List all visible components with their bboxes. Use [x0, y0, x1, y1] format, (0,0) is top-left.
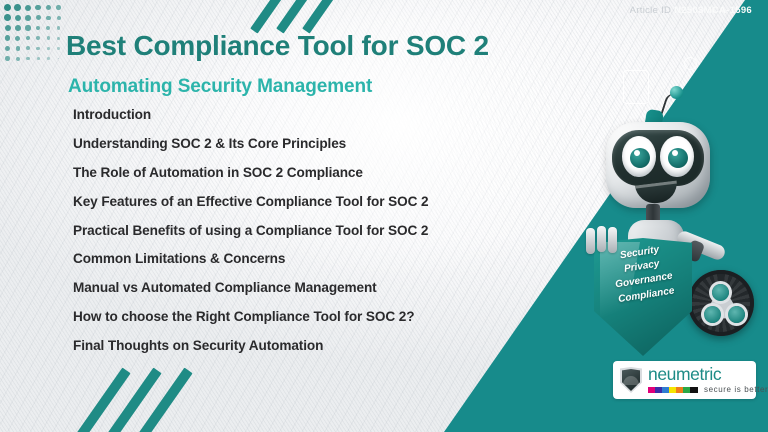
- page-subtitle: Automating Security Management: [68, 76, 372, 98]
- decorative-dot: [57, 26, 60, 29]
- decorative-dot: [47, 36, 50, 39]
- robot-finger: [586, 228, 595, 254]
- decorative-dot: [46, 16, 51, 21]
- decorative-slashes-bottom: [92, 368, 202, 432]
- logo-wordmark: neumetric: [648, 366, 768, 384]
- decorative-dot: [57, 16, 61, 20]
- decorative-dot-grid: [0, 0, 62, 62]
- decorative-dot: [26, 46, 30, 50]
- toc-item[interactable]: Understanding SOC 2 & Its Core Principle…: [73, 137, 543, 151]
- decorative-dot: [47, 47, 50, 50]
- slide-canvas: Article ID N2503MCA-1596 Best Compliance…: [0, 0, 768, 432]
- robot-wheel-hub-hole: [712, 284, 729, 301]
- logo-tagline-row: secure is better: [648, 385, 768, 394]
- decorative-dot: [25, 15, 31, 21]
- logo-color-bar: [648, 387, 698, 393]
- decorative-dot: [4, 14, 11, 21]
- decorative-dot: [16, 57, 20, 61]
- robot-eye-glint-right: [672, 150, 678, 156]
- article-id-label: Article ID: [630, 5, 672, 16]
- toc-item[interactable]: Key Features of an Effective Compliance …: [73, 195, 543, 209]
- decorative-dot: [25, 25, 30, 30]
- toc-item[interactable]: Final Thoughts on Security Automation: [73, 339, 543, 353]
- toc-item[interactable]: Manual vs Automated Compliance Managemen…: [73, 281, 543, 295]
- logo-text-group: neumetric secure is better: [648, 366, 768, 395]
- decorative-dot: [47, 57, 49, 59]
- robot-antenna-ball: [670, 86, 683, 99]
- decorative-dot: [5, 35, 11, 41]
- decorative-dot: [26, 36, 31, 41]
- toc-item[interactable]: The Role of Automation in SOC 2 Complian…: [73, 166, 543, 180]
- decorative-dot: [16, 46, 21, 51]
- decorative-dot: [36, 36, 40, 40]
- toc-item[interactable]: Common Limitations & Concerns: [73, 252, 543, 266]
- decorative-dot: [36, 15, 41, 20]
- robot-hand-left: [586, 226, 622, 252]
- robot-mascot: SecurityPrivacyGovernanceCompliance: [578, 78, 768, 348]
- article-id-value: N2503MCA-1596: [674, 5, 752, 16]
- neumetric-logo[interactable]: neumetric secure is better: [613, 361, 756, 399]
- decorative-slashes-top: [256, 0, 356, 32]
- decorative-dot: [5, 25, 11, 31]
- table-of-contents: IntroductionUnderstanding SOC 2 & Its Co…: [73, 108, 543, 368]
- decorative-dot: [35, 5, 41, 11]
- decorative-dot: [14, 4, 21, 11]
- toc-item[interactable]: How to choose the Right Compliance Tool …: [73, 310, 543, 324]
- decorative-dot: [57, 47, 59, 49]
- toc-item[interactable]: Introduction: [73, 108, 543, 122]
- decorative-dot: [4, 4, 11, 11]
- page-title: Best Compliance Tool for SOC 2: [66, 30, 489, 62]
- decorative-dot: [25, 5, 31, 11]
- toc-item[interactable]: Practical Benefits of using a Compliance…: [73, 224, 543, 238]
- decorative-dot: [36, 47, 39, 50]
- robot-finger: [608, 227, 617, 253]
- decorative-dot: [15, 15, 21, 21]
- article-id: Article ID N2503MCA-1596: [630, 5, 752, 16]
- decorative-dot: [37, 57, 40, 60]
- decorative-dot: [26, 57, 29, 60]
- decorative-dot: [57, 37, 60, 40]
- shield-icon: [620, 367, 642, 393]
- decorative-circle-outline: [684, 57, 697, 70]
- decorative-dot: [46, 26, 50, 30]
- decorative-dot: [5, 56, 10, 61]
- decorative-dot: [5, 46, 10, 51]
- decorative-dot: [56, 5, 61, 10]
- robot-wheel-hub-hole: [704, 306, 721, 323]
- robot-pupil-left: [630, 148, 650, 168]
- robot-wheel-hub-hole: [728, 306, 745, 323]
- robot-finger: [597, 226, 606, 252]
- robot-pupil-right: [668, 148, 688, 168]
- decorative-dot: [58, 58, 60, 60]
- decorative-dot: [36, 26, 41, 31]
- logo-tagline: secure is better: [704, 385, 768, 394]
- decorative-dot: [46, 5, 51, 10]
- decorative-dot: [15, 25, 21, 31]
- robot-eye-glint-left: [634, 150, 640, 156]
- decorative-dot: [15, 36, 20, 41]
